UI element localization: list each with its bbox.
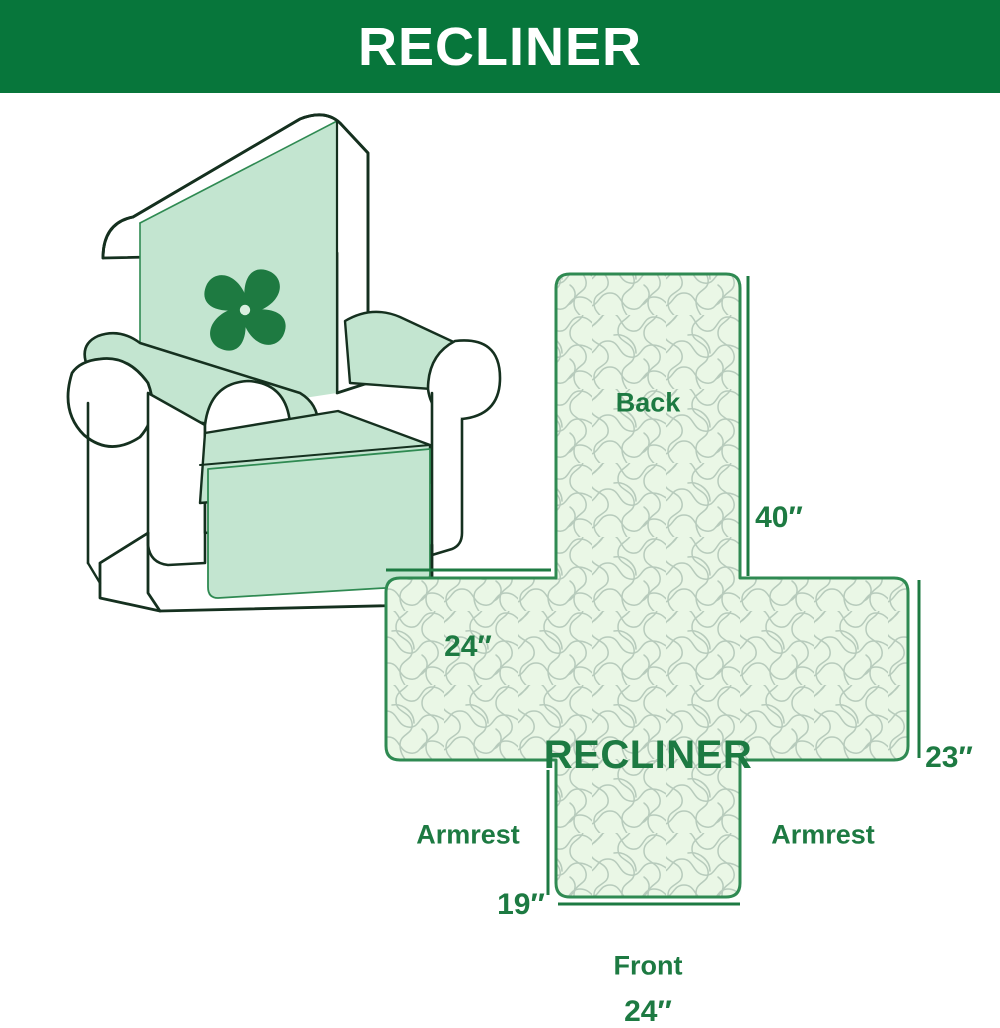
dimension-label-23: 23″ [925,743,973,773]
cover-label-armrest-left: Armrest [416,822,520,849]
cover-label-back: Back [616,390,681,417]
cover-label-front: Front [614,953,683,980]
dimension-label-24-top: 24″ [444,632,492,662]
diagram-canvas: Back RECLINER Armrest Armrest Front 40″ … [0,93,1000,1000]
dimension-label-24-bottom: 24″ [624,997,672,1027]
dimension-label-40: 40″ [755,503,803,533]
cover-label-center: RECLINER [544,735,752,775]
cover-label-armrest-right: Armrest [771,822,875,849]
dimension-label-19: 19″ [497,890,545,920]
cover-cross-diagram [0,93,1000,1000]
page-title: RECLINER [358,20,642,74]
cover-cross-shape [386,274,908,897]
header-banner: RECLINER [0,0,1000,93]
